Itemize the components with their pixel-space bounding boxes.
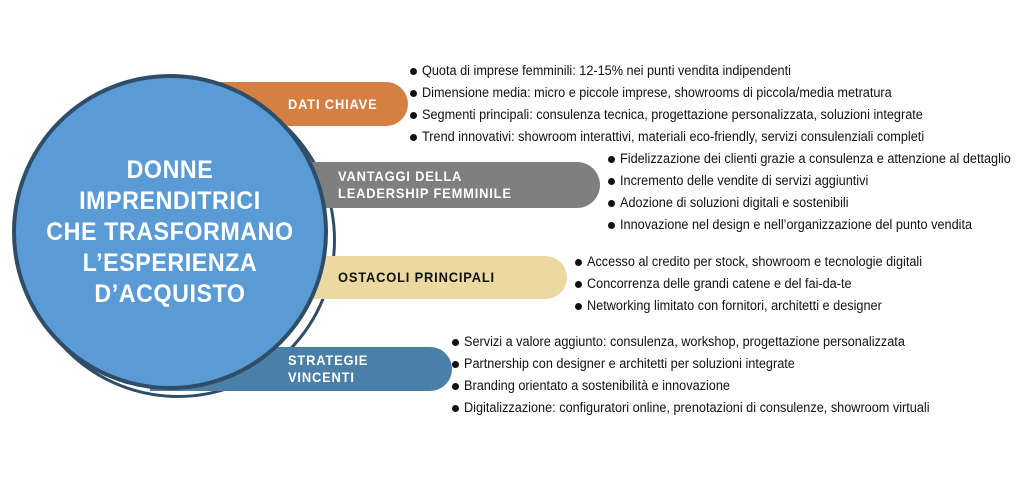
list-item-text: Dimensione media: micro e piccole impres… [422, 84, 892, 102]
bullet-dot-icon [608, 200, 615, 207]
list-item: Dimensione media: micro e piccole impres… [410, 84, 956, 102]
list-item-text: Partnership con designer e architetti pe… [464, 355, 795, 373]
list-item-text: Segmenti principali: consulenza tecnica,… [422, 106, 923, 124]
bullet-list-ostacoli-principali: Accesso al credito per stock, showroom e… [575, 253, 943, 315]
bullet-dot-icon [410, 134, 417, 141]
list-item: Branding orientato a sostenibilità e inn… [452, 377, 959, 395]
list-item-text: Fidelizzazione dei clienti grazie a cons… [620, 150, 1011, 168]
section-pill-label: OSTACOLI PRINCIPALI [338, 269, 495, 286]
bullet-dot-icon [608, 178, 615, 185]
list-item-text: Quota di imprese femminili: 12-15% nei p… [422, 62, 791, 80]
list-item-text: Innovazione nel design e nell’organizzaz… [620, 216, 972, 234]
list-item-text: Concorrenza delle grandi catene e del fa… [587, 275, 852, 293]
list-item: Adozione di soluzioni digitali e sosteni… [608, 194, 1024, 212]
list-item: Accesso al credito per stock, showroom e… [575, 253, 943, 271]
list-item: Partnership con designer e architetti pe… [452, 355, 959, 373]
bullet-dot-icon [452, 383, 459, 390]
page-title: DONNE IMPRENDITRICI CHE TRASFORMANO L’ES… [37, 155, 303, 310]
infographic-canvas: DATI CHIAVE VANTAGGI DELLA LEADERSHIP FE… [0, 0, 1024, 481]
central-circle: DONNE IMPRENDITRICI CHE TRASFORMANO L’ES… [12, 74, 328, 390]
bullet-dot-icon [452, 405, 459, 412]
bullet-dot-icon [410, 68, 417, 75]
bullet-dot-icon [608, 222, 615, 229]
list-item-text: Trend innovativi: showroom interattivi, … [422, 128, 924, 146]
section-pill-label: STRATEGIE VINCENTI [288, 352, 439, 385]
list-item-text: Digitalizzazione: configuratori online, … [464, 399, 930, 417]
bullet-dot-icon [410, 90, 417, 97]
list-item-text: Branding orientato a sostenibilità e inn… [464, 377, 730, 395]
list-item: Innovazione nel design e nell’organizzaz… [608, 216, 1024, 234]
list-item: Incremento delle vendite di servizi aggi… [608, 172, 1024, 190]
list-item-text: Adozione di soluzioni digitali e sosteni… [620, 194, 849, 212]
bullet-dot-icon [575, 303, 582, 310]
bullet-dot-icon [452, 361, 459, 368]
section-pill-label: DATI CHIAVE [288, 96, 377, 113]
list-item: Networking limitato con fornitori, archi… [575, 297, 943, 315]
list-item: Segmenti principali: consulenza tecnica,… [410, 106, 956, 124]
list-item: Fidelizzazione dei clienti grazie a cons… [608, 150, 1024, 168]
list-item: Trend innovativi: showroom interattivi, … [410, 128, 956, 146]
bullet-list-dati-chiave: Quota di imprese femminili: 12-15% nei p… [410, 62, 956, 146]
bullet-dot-icon [608, 156, 615, 163]
list-item: Concorrenza delle grandi catene e del fa… [575, 275, 943, 293]
bullet-dot-icon [452, 339, 459, 346]
list-item-text: Incremento delle vendite di servizi aggi… [620, 172, 868, 190]
bullet-dot-icon [410, 112, 417, 119]
list-item: Digitalizzazione: configuratori online, … [452, 399, 959, 417]
list-item: Servizi a valore aggiunto: consulenza, w… [452, 333, 959, 351]
list-item: Quota di imprese femminili: 12-15% nei p… [410, 62, 956, 80]
section-pill-label: VANTAGGI DELLA LEADERSHIP FEMMINILE [338, 168, 512, 201]
bullet-dot-icon [575, 259, 582, 266]
list-item-text: Servizi a valore aggiunto: consulenza, w… [464, 333, 905, 351]
list-item-text: Accesso al credito per stock, showroom e… [587, 253, 922, 271]
bullet-dot-icon [575, 281, 582, 288]
bullet-list-vantaggi-leadership-femminile: Fidelizzazione dei clienti grazie a cons… [608, 150, 1024, 234]
list-item-text: Networking limitato con fornitori, archi… [587, 297, 882, 315]
bullet-list-strategie-vincenti: Servizi a valore aggiunto: consulenza, w… [452, 333, 959, 417]
